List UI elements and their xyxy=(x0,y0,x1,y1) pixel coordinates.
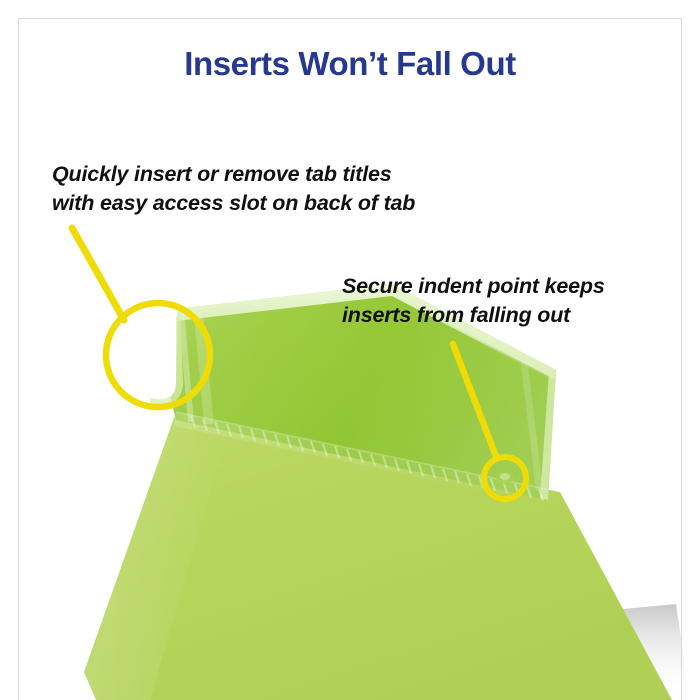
callout-leader-line-icon xyxy=(453,344,497,459)
callout-overlay xyxy=(0,0,700,700)
annotation-line-1: Secure indent point keeps xyxy=(342,272,605,301)
annotation-line-2: inserts from falling out xyxy=(342,301,605,330)
callout-leader-line-icon xyxy=(72,228,124,320)
annotation-line-1: Quickly insert or remove tab titles xyxy=(52,160,415,189)
callout-access-slot[interactable] xyxy=(72,228,210,407)
callout-circle-icon xyxy=(106,303,210,407)
callout-indent-point[interactable] xyxy=(453,344,526,499)
page-title: Inserts Won’t Fall Out xyxy=(0,46,700,83)
annotation-access-slot-text: Quickly insert or remove tab titles with… xyxy=(52,160,415,218)
product-infographic: Inserts Won’t Fall Out Quickly insert or… xyxy=(0,0,700,700)
callout-circle-icon xyxy=(484,457,526,499)
annotation-line-2: with easy access slot on back of tab xyxy=(52,189,415,218)
annotation-indent-point-text: Secure indent point keeps inserts from f… xyxy=(342,272,605,330)
